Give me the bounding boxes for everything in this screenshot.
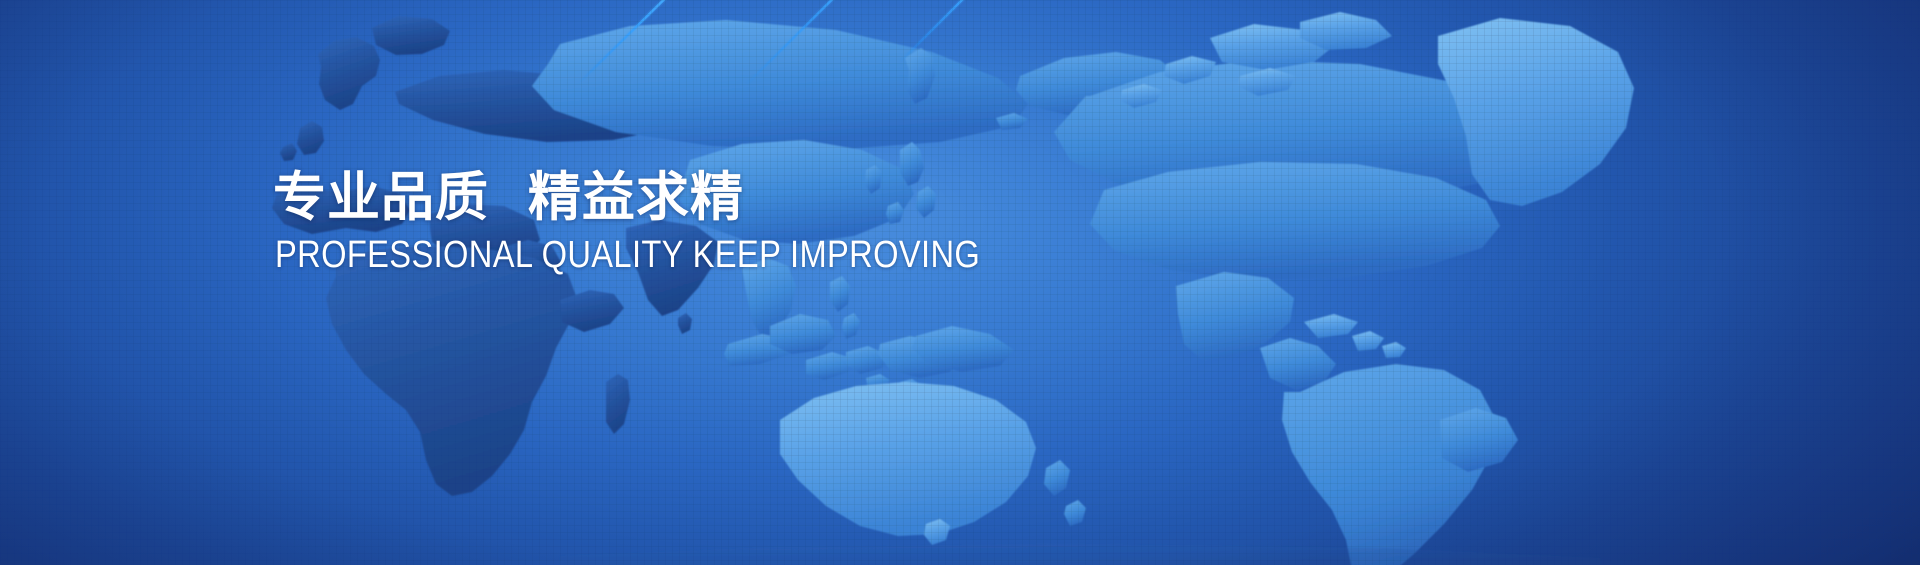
grid-texture [0, 0, 1920, 565]
banner-copy: 专业品质 精益求精 PROFESSIONAL QUALITY KEEP IMPR… [273, 168, 1095, 277]
hero-banner: 专业品质 精益求精 PROFESSIONAL QUALITY KEEP IMPR… [0, 0, 1920, 565]
banner-subline: PROFESSIONAL QUALITY KEEP IMPROVING [275, 235, 980, 277]
banner-headline: 专业品质 精益求精 [273, 168, 1095, 227]
